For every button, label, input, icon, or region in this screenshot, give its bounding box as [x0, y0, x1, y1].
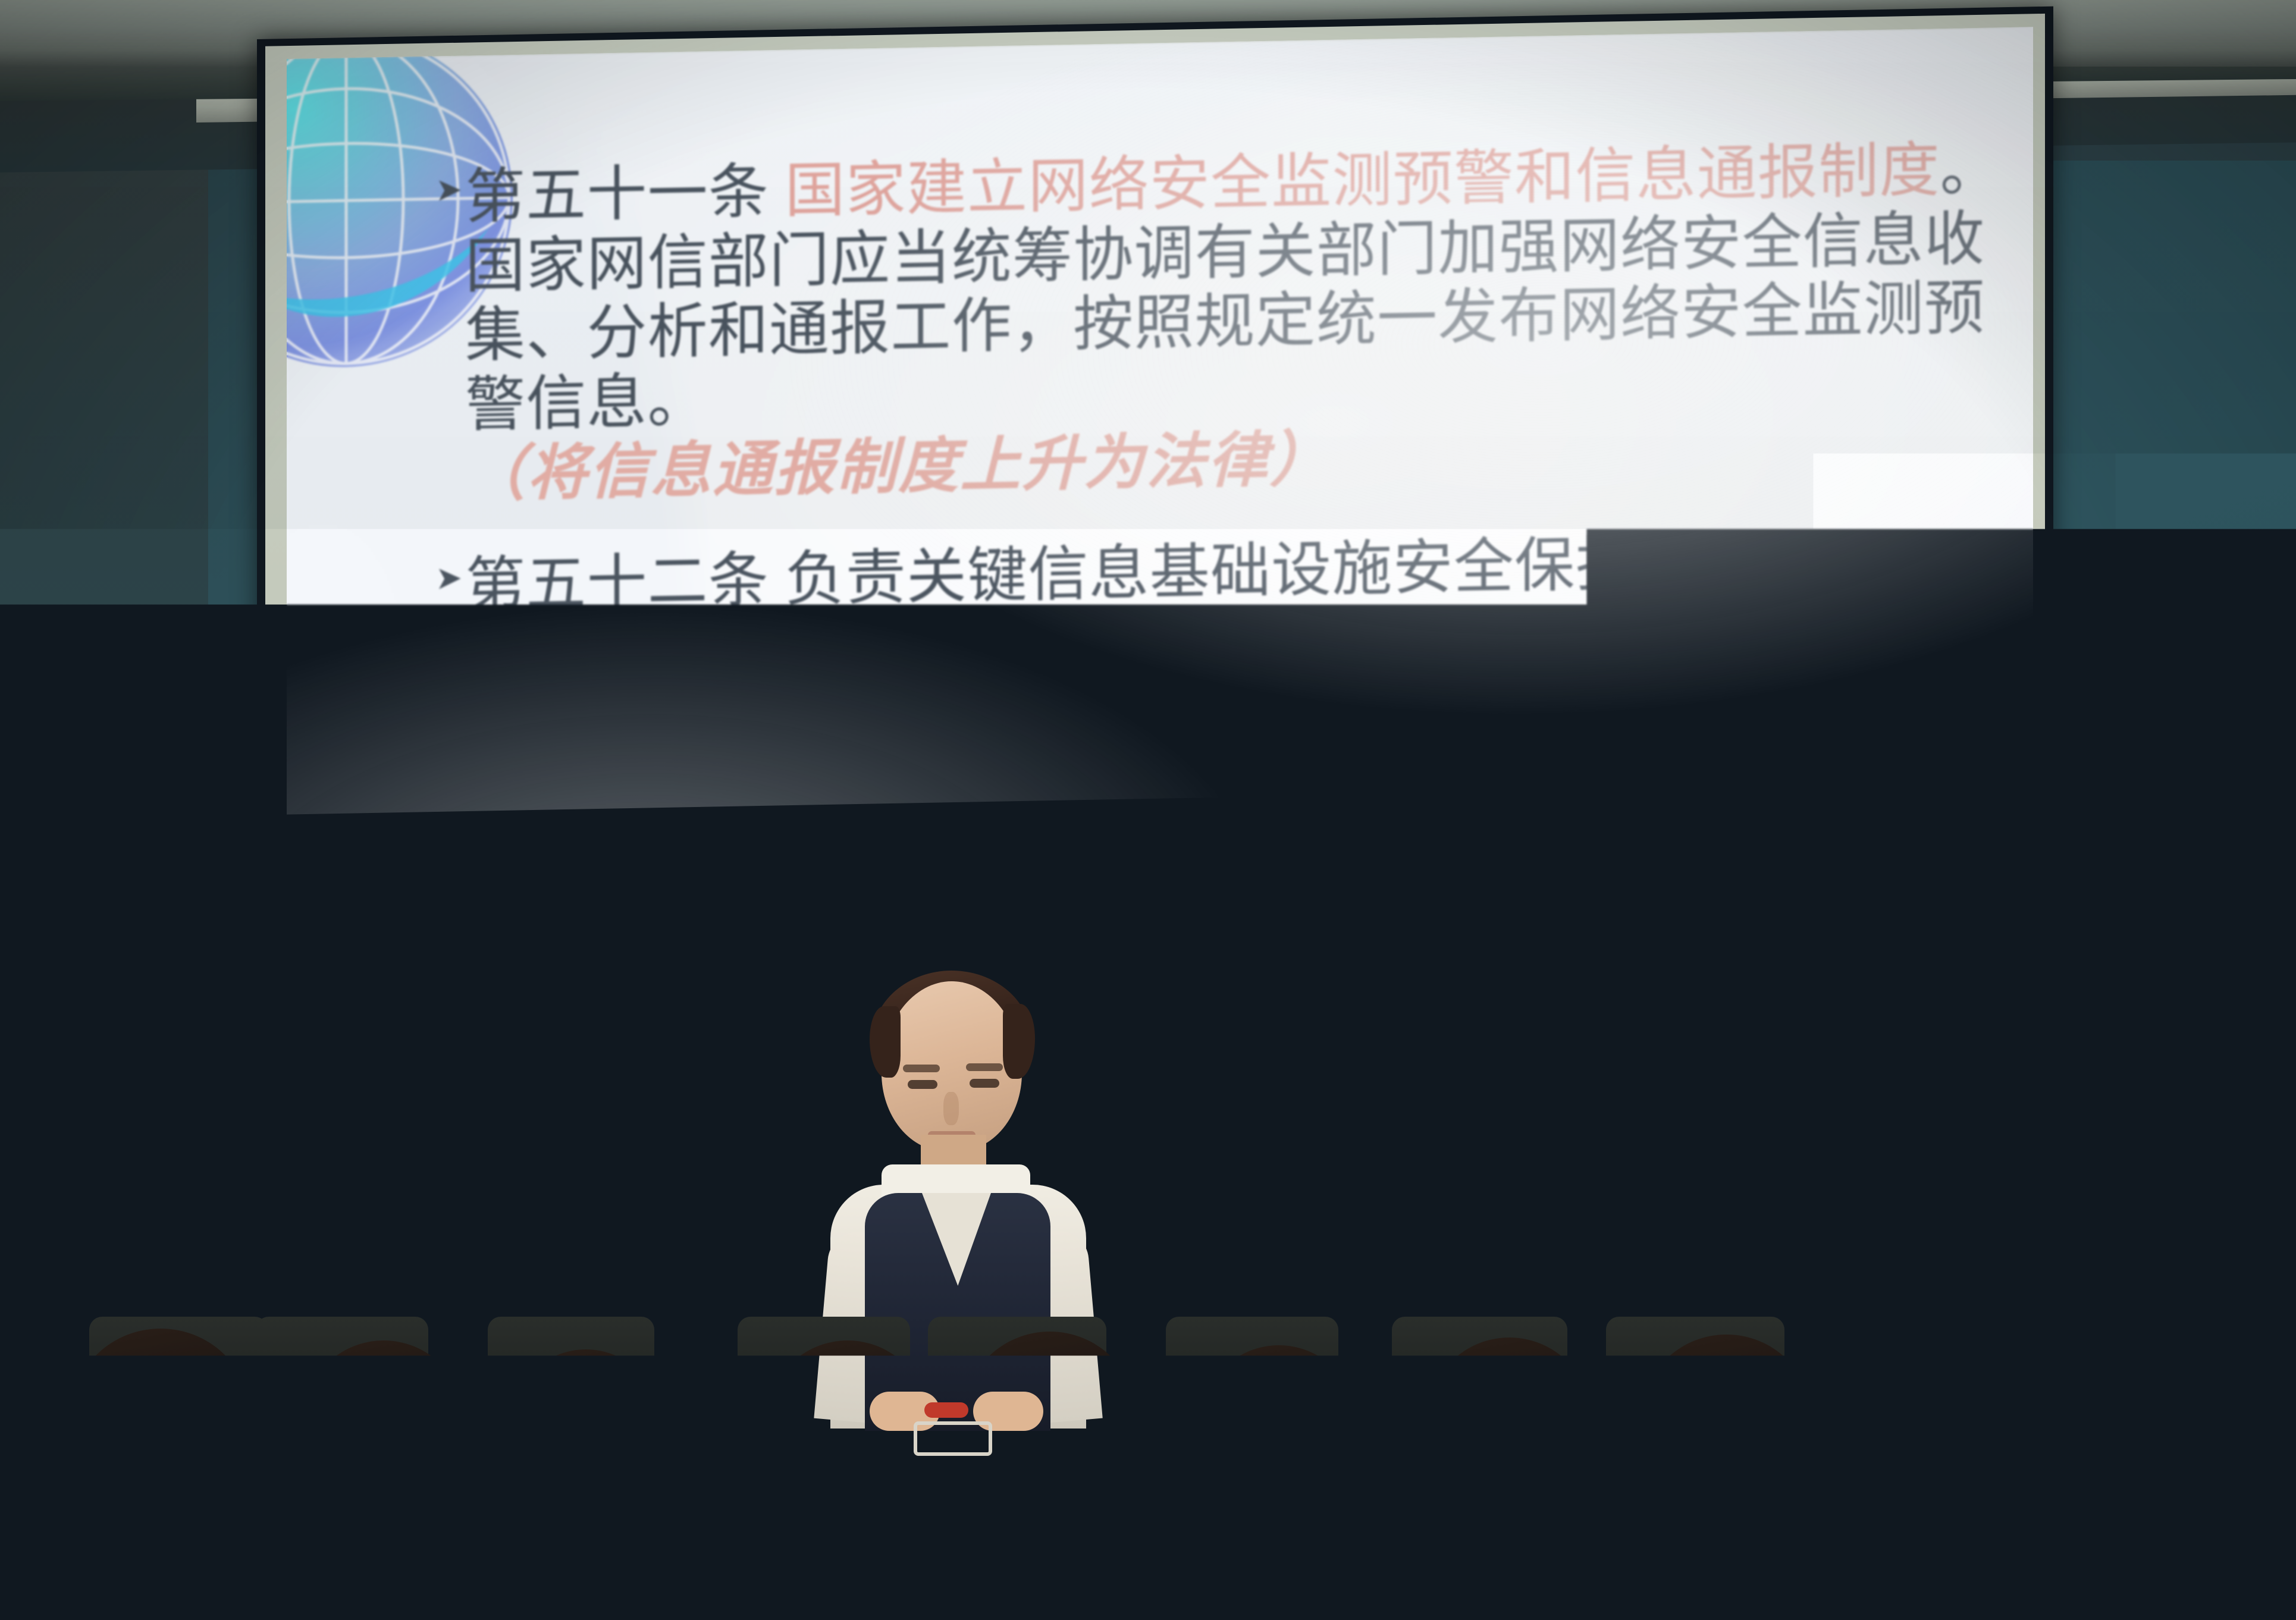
screen-border: ➤ 第五十一条 国家建立网络安全监测预警和信息通报制度。国家网信部门应当统筹协调… [265, 14, 2045, 1179]
presenter-hair-right [1003, 1004, 1035, 1079]
lecture-hall-photo: ➤ 第五十一条 国家建立网络安全监测预警和信息通报制度。国家网信部门应当统筹协调… [0, 0, 2296, 1620]
slide-surface: ➤ 第五十一条 国家建立网络安全监测预警和信息通报制度。国家网信部门应当统筹协调… [287, 27, 2033, 1153]
front-desk [0, 1507, 2296, 1620]
presenter-brow-left [903, 1065, 940, 1072]
wall-left-pillar [0, 57, 208, 1235]
presenter-eye-left [908, 1080, 937, 1089]
presenter-hair-left [870, 1006, 901, 1078]
slide-run-normal: 第五十一条 [465, 158, 785, 231]
projection-screen: ➤ 第五十一条 国家建立网络安全监测预警和信息通报制度。国家网信部门应当统筹协调… [257, 7, 2053, 1187]
presenter-eye-right [970, 1079, 999, 1088]
bullet-icon-2: ➤ [435, 562, 463, 595]
slide-body: ➤ 第五十一条 国家建立网络安全监测预警和信息通报制度。国家网信部门应当统筹协调… [465, 134, 2027, 844]
presenter-nose [943, 1092, 959, 1125]
slide-paragraph-article-51: ➤ 第五十一条 国家建立网络安全监测预警和信息通报制度。国家网信部门应当统筹协调… [465, 134, 2027, 509]
presenter-brow-right [966, 1063, 1003, 1071]
bullet-icon: ➤ [435, 174, 463, 206]
slide-paragraph-article-52: ➤ 第五十二条 负责关键信息基础设施安全保护工作的部门，应当建立健全本行业、本领… [465, 523, 2027, 829]
